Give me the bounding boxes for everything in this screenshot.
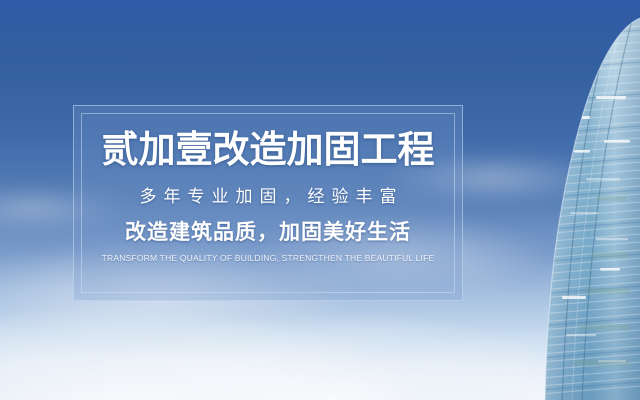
tagline: 多年专业加固，经验丰富 [133, 187, 404, 207]
panel-content: 贰加壹改造加固工程 多年专业加固，经验丰富 改造建筑品质，加固美好生活 TRAN… [74, 106, 462, 300]
skyscraper-image [500, 0, 640, 400]
hero-banner: 贰加壹改造加固工程 多年专业加固，经验丰富 改造建筑品质，加固美好生活 TRAN… [0, 0, 640, 400]
slogan: 改造建筑品质，加固美好生活 [125, 220, 411, 245]
headline-panel: 贰加壹改造加固工程 多年专业加固，经验丰富 改造建筑品质，加固美好生活 TRAN… [73, 105, 463, 301]
slogan-english: TRANSFORM THE QUALITY OF BUILDING, STREN… [102, 253, 435, 263]
page-title: 贰加壹改造加固工程 [102, 130, 435, 171]
